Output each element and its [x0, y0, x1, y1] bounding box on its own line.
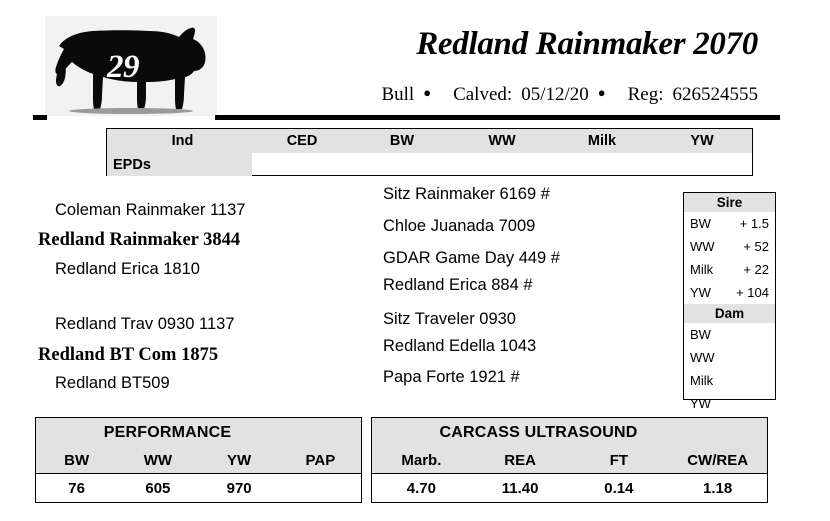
carcass-col-marb: Marb. — [372, 452, 471, 469]
epd-header-bw: BW — [352, 133, 452, 149]
carcass-value-row: 4.70 11.40 0.14 1.18 — [372, 474, 767, 502]
dam-bw-label: BW — [690, 327, 728, 342]
epd-header-milk: Milk — [552, 133, 652, 149]
epd-header-ced: CED — [252, 133, 352, 149]
performance-col-pap: PAP — [280, 452, 361, 469]
calved-label: Calved: — [453, 84, 512, 106]
performance-title: PERFORMANCE — [36, 424, 361, 442]
reg-label: Reg: — [628, 84, 664, 106]
sire-yw-label: YW — [690, 285, 728, 300]
sire-row-bw: BW + 1.5 — [684, 212, 775, 235]
carcass-val-marb: 4.70 — [372, 480, 471, 497]
performance-val-bw: 76 — [36, 480, 117, 497]
carcass-ultrasound-table: CARCASS ULTRASOUND Marb. REA FT CW/REA 4… — [371, 417, 768, 503]
dam-section-title: Dam — [684, 304, 775, 323]
pedigree-left-2: Redland Rainmaker 3844 — [38, 230, 240, 251]
pedigree-left-4: Redland Trav 0930 1137 — [55, 315, 235, 334]
pedigree-left-1: Coleman Rainmaker 1137 — [55, 201, 245, 220]
performance-val-yw: 970 — [199, 480, 280, 497]
performance-col-ww: WW — [117, 452, 198, 469]
sire-dam-epd-box: Sire BW + 1.5 WW + 52 Milk + 22 YW + 104… — [683, 192, 776, 400]
pedigree-mid-7: Papa Forte 1921 # — [383, 368, 520, 387]
dam-row-milk: Milk — [684, 369, 775, 392]
carcass-val-rea: 11.40 — [471, 480, 570, 497]
sire-yw-value: + 104 — [728, 285, 769, 300]
sex-label: Bull — [381, 84, 414, 106]
carcass-header: CARCASS ULTRASOUND Marb. REA FT CW/REA — [372, 418, 767, 474]
pedigree-mid-5: Sitz Traveler 0930 — [383, 310, 516, 329]
performance-table: PERFORMANCE BW WW YW PAP 76 605 970 — [35, 417, 362, 503]
header-divider-stub — [33, 115, 47, 120]
animal-meta: Bull ● Calved: 05/12/20 ● Reg: 626524555 — [381, 84, 758, 106]
bull-photo: 29 — [45, 16, 217, 116]
epd-header-ind: Ind — [107, 133, 252, 149]
tag-number: 29 — [45, 16, 217, 116]
reg-number: 626524555 — [673, 84, 759, 106]
sire-section-title: Sire — [684, 193, 775, 212]
epd-table: Ind CED BW WW Milk YW EPDs — [106, 128, 753, 176]
pedigree-left-3: Redland Erica 1810 — [55, 260, 200, 279]
carcass-title: CARCASS ULTRASOUND — [372, 424, 767, 442]
epd-header-row: Ind CED BW WW Milk YW — [107, 129, 752, 153]
carcass-col-ft: FT — [570, 452, 669, 469]
pedigree-mid-4: Redland Erica 884 # — [383, 276, 533, 295]
page-title: Redland Rainmaker 2070 — [416, 26, 758, 63]
sire-ww-label: WW — [690, 239, 728, 254]
sire-ww-value: + 52 — [728, 239, 769, 254]
pedigree-mid-3: GDAR Game Day 449 # — [383, 249, 560, 268]
dam-row-ww: WW — [684, 346, 775, 369]
document-header: 29 Redland Rainmaker 2070 Bull ● Calved:… — [0, 0, 830, 120]
dam-ww-label: WW — [690, 350, 728, 365]
sire-bw-label: BW — [690, 216, 728, 231]
pedigree-mid-2: Chloe Juanada 7009 — [383, 217, 535, 236]
carcass-val-cwrea: 1.18 — [668, 480, 767, 497]
carcass-col-cwrea: CW/REA — [668, 452, 767, 469]
calved-date: 05/12/20 — [521, 84, 589, 106]
performance-header: PERFORMANCE BW WW YW PAP — [36, 418, 361, 474]
epd-header-yw: YW — [652, 133, 752, 149]
pedigree-mid-1: Sitz Rainmaker 6169 # — [383, 185, 550, 204]
dam-milk-label: Milk — [690, 373, 728, 388]
performance-col-bw: BW — [36, 452, 117, 469]
bullet-separator-2: ● — [598, 85, 606, 101]
performance-column-row: BW WW YW PAP — [36, 452, 361, 469]
dam-yw-label: YW — [690, 396, 728, 411]
epd-value-row: EPDs — [107, 153, 752, 176]
sire-milk-value: + 22 — [728, 262, 769, 277]
performance-val-ww: 605 — [117, 480, 198, 497]
header-divider-rule — [215, 115, 780, 120]
performance-col-yw: YW — [199, 452, 280, 469]
performance-value-row: 76 605 970 — [36, 474, 361, 502]
pedigree-left-5: Redland BT Com 1875 — [38, 345, 218, 366]
sire-row-ww: WW + 52 — [684, 235, 775, 258]
carcass-col-rea: REA — [471, 452, 570, 469]
dam-row-yw: YW — [684, 392, 775, 415]
sire-row-yw: YW + 104 — [684, 281, 775, 304]
epd-row-label: EPDs — [107, 153, 252, 176]
bullet-separator-1: ● — [423, 85, 431, 101]
sire-bw-value: + 1.5 — [728, 216, 769, 231]
epd-header-ww: WW — [452, 133, 552, 149]
carcass-column-row: Marb. REA FT CW/REA — [372, 452, 767, 469]
carcass-val-ft: 0.14 — [570, 480, 669, 497]
sire-milk-label: Milk — [690, 262, 728, 277]
sire-row-milk: Milk + 22 — [684, 258, 775, 281]
pedigree-mid-6: Redland Edella 1043 — [383, 337, 536, 356]
pedigree-left-6: Redland BT509 — [55, 374, 170, 393]
dam-row-bw: BW — [684, 323, 775, 346]
